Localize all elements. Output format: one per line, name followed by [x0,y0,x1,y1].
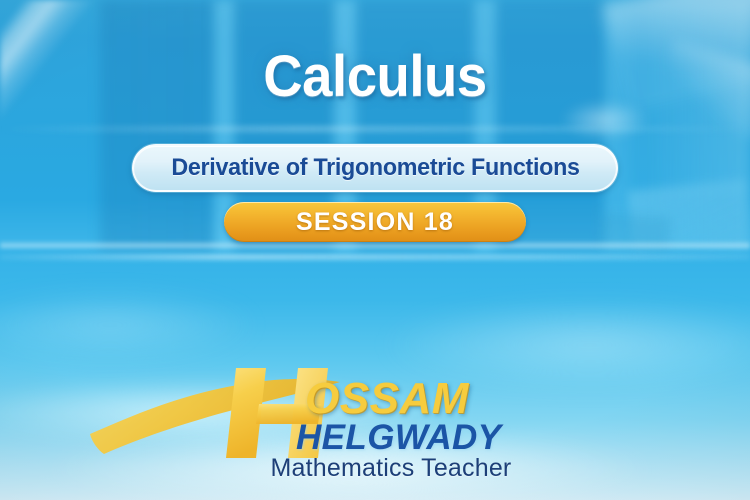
logo-name-first: OSSAM [305,374,469,424]
background-waterline-upper [0,126,750,132]
page-title: Calculus [23,48,728,106]
background-waterline-main [0,241,750,250]
subtitle-text: Derivative of Trigonometric Functions [171,154,579,182]
background-foam-mid-left [0,290,260,360]
subtitle-pill: Derivative of Trigonometric Functions [132,144,618,192]
session-badge-label: SESSION 18 [296,208,454,237]
logo-tagline: Mathematics Teacher [226,454,556,483]
background-waterline-secondary [0,254,750,260]
title-slide: Calculus Derivative of Trigonometric Fun… [0,0,750,500]
instructor-logo: OSSAM HELGWADY Mathematics Teacher [0,368,750,493]
session-badge: SESSION 18 [224,202,526,242]
background-shape-upper-right-3 [560,100,650,140]
logo-name-last: HELGWADY [296,418,501,458]
